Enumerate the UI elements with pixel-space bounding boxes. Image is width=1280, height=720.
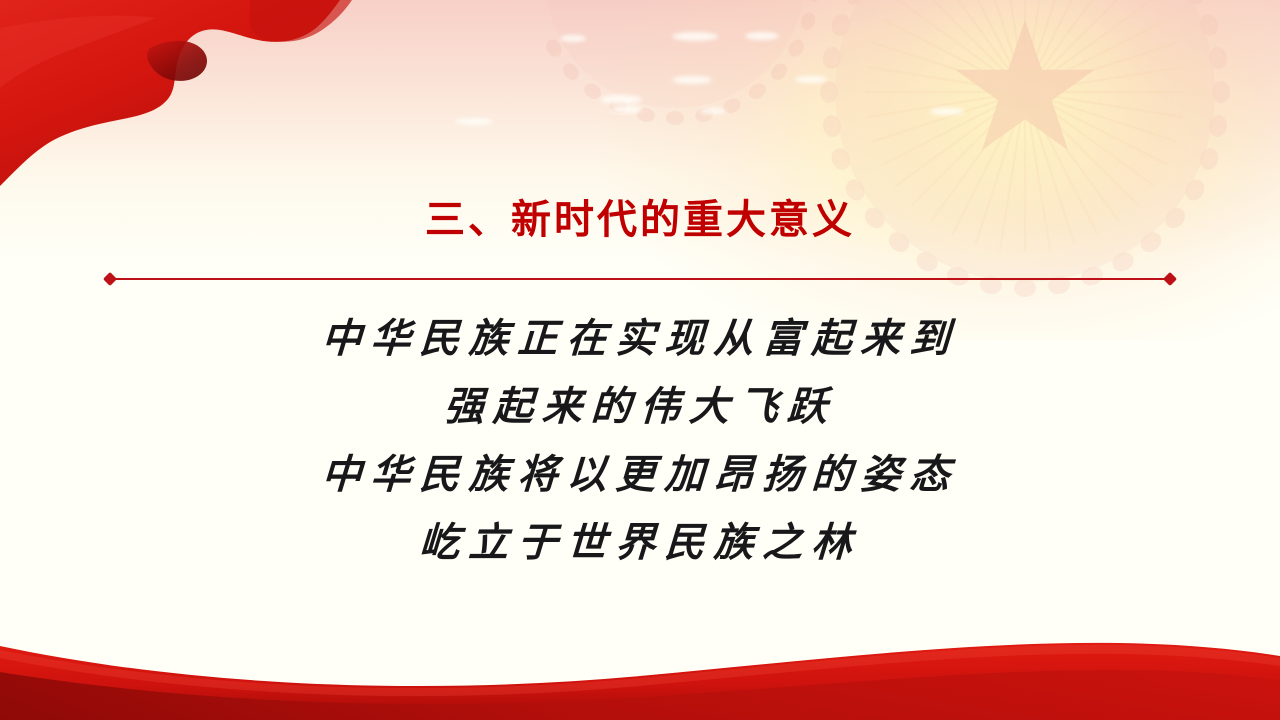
body-line: 中华民族将以更加昂扬的姿态: [0, 441, 1280, 509]
body-text-block: 中华民族正在实现从富起来到 强起来的伟大飞跃 中华民族将以更加昂扬的姿态 屹立于…: [0, 305, 1280, 577]
cloud-accent: [795, 76, 827, 83]
red-wave-ribbon: [0, 600, 1280, 720]
body-line: 中华民族正在实现从富起来到: [0, 305, 1280, 373]
presentation-slide: 三、新时代的重大意义 中华民族正在实现从富起来到 强起来的伟大飞跃 中华民族将以…: [0, 0, 1280, 720]
page-title-text: 三、新时代的重大意义: [425, 198, 855, 243]
cloud-accent: [700, 108, 726, 114]
cloud-accent: [600, 95, 642, 104]
scalloped-rim-watermark: [510, 0, 840, 128]
divider-rule: [111, 278, 1169, 280]
cloud-accent: [672, 76, 712, 84]
body-line: 强起来的伟大飞跃: [0, 373, 1280, 441]
cloud-accent: [455, 118, 493, 125]
cloud-accent: [745, 32, 779, 40]
page-title: 三、新时代的重大意义: [0, 198, 1280, 243]
diamond-dot-icon: [1163, 272, 1177, 286]
cloud-accent: [930, 108, 964, 115]
body-line: 屹立于世界民族之林: [0, 509, 1280, 577]
cloud-accent: [672, 32, 718, 41]
red-silk-ribbon: [0, 0, 420, 210]
title-divider: [105, 272, 1175, 286]
cloud-accent: [560, 35, 586, 42]
cloud-accent: [612, 106, 642, 113]
